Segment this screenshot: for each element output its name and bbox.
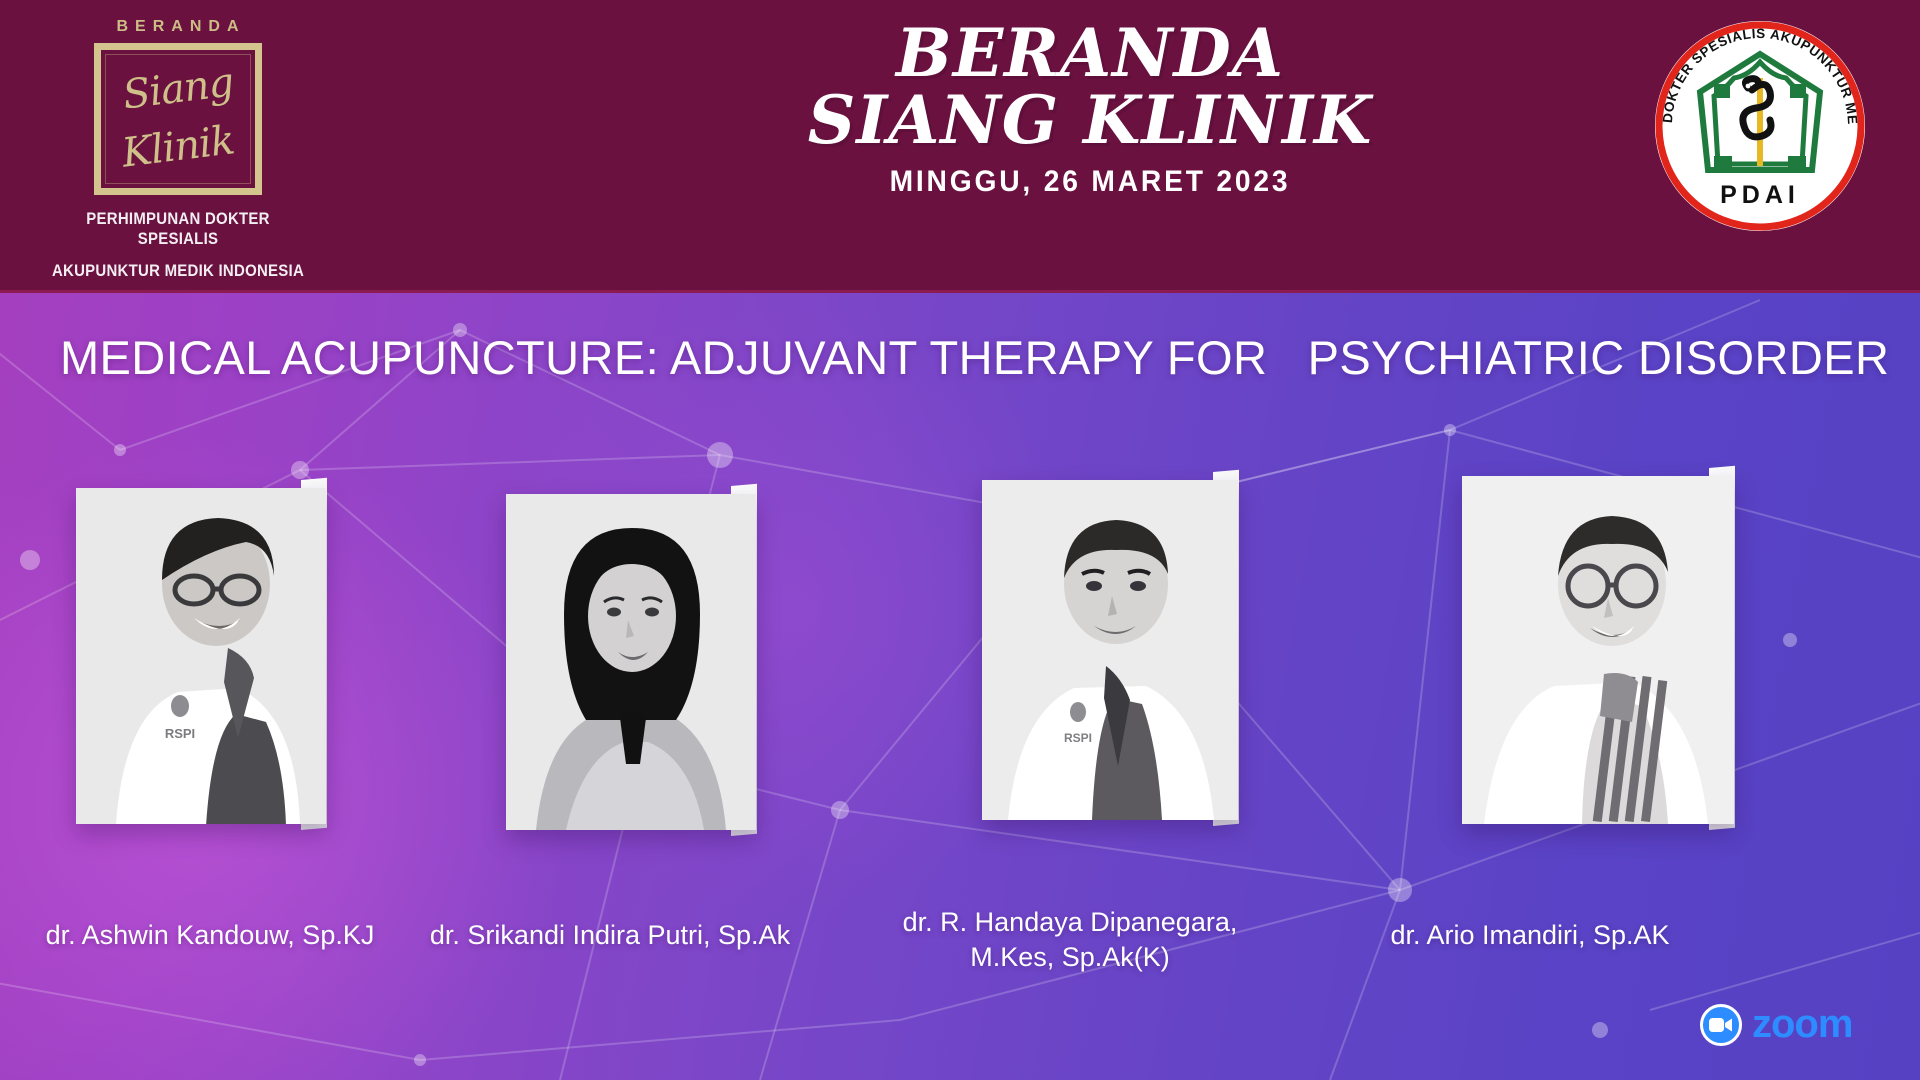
speaker-photo-frame-4 xyxy=(1462,468,1734,830)
speaker-portrait-4 xyxy=(1462,476,1734,824)
event-title-line-2: SIANG KLINIK xyxy=(560,89,1620,152)
speaker-photo-frame-1: RSPI xyxy=(76,480,326,830)
speaker-name-1: dr. Ashwin Kandouw, Sp.KJ xyxy=(0,918,420,953)
video-camera-icon xyxy=(1700,1004,1742,1046)
speaker-portrait-3: RSPI xyxy=(982,480,1238,820)
speaker-name-4: dr. Ario Imandiri, Sp.AK xyxy=(1320,918,1740,953)
organization-line-2: AKUPUNKTUR MEDIK INDONESIA xyxy=(46,261,310,281)
speaker-name-2: dr. Srikandi Indira Putri, Sp.Ak xyxy=(400,918,820,953)
event-date: MINGGU, 26 MARET 2023 xyxy=(592,165,1588,199)
speaker-photo-frame-3: RSPI xyxy=(982,472,1238,826)
video-camera-glyph xyxy=(1709,1017,1733,1033)
header-divider xyxy=(0,290,1920,293)
slide-root: BERANDA Siang Klinik PERHIMPUNAN DOKTER … xyxy=(0,0,1920,1080)
pdai-seal-logo: PERHIMPUNAN DOKTER SPESIALIS AKUPUNKTUR … xyxy=(1652,18,1868,234)
speaker-name-3: dr. R. Handaya Dipanegara, M.Kes, Sp.Ak(… xyxy=(860,905,1280,974)
speaker-portrait-2 xyxy=(506,494,756,830)
svg-text:RSPI: RSPI xyxy=(165,726,195,741)
speaker-photo-frame-2 xyxy=(506,486,756,836)
frame-face xyxy=(506,494,756,830)
zoom-wordmark: zoom xyxy=(1752,1002,1852,1047)
organization-line-1: PERHIMPUNAN DOKTER SPESIALIS xyxy=(46,209,310,249)
event-title-line-1: BERANDA xyxy=(560,22,1620,85)
zoom-platform-badge: zoom xyxy=(1700,1002,1852,1047)
frame-face: RSPI xyxy=(76,488,326,824)
speaker-portrait-1: RSPI xyxy=(76,488,326,824)
brand-gold-frame: Siang Klinik xyxy=(94,43,262,195)
frame-face: RSPI xyxy=(982,480,1238,820)
event-title-block: BERANDA SIANG KLINIK MINGGU, 26 MARET 20… xyxy=(560,22,1620,199)
page-title: MEDICAL ACUPUNCTURE: ADJUVANT THERAPY FO… xyxy=(60,330,1860,385)
brand-wordmark: BERANDA xyxy=(34,18,328,36)
svg-text:RSPI: RSPI xyxy=(1064,731,1092,745)
frame-face xyxy=(1462,476,1734,824)
seal-acronym: PDAI xyxy=(1720,181,1800,209)
brand-logo: BERANDA Siang Klinik PERHIMPUNAN DOKTER … xyxy=(28,8,328,283)
